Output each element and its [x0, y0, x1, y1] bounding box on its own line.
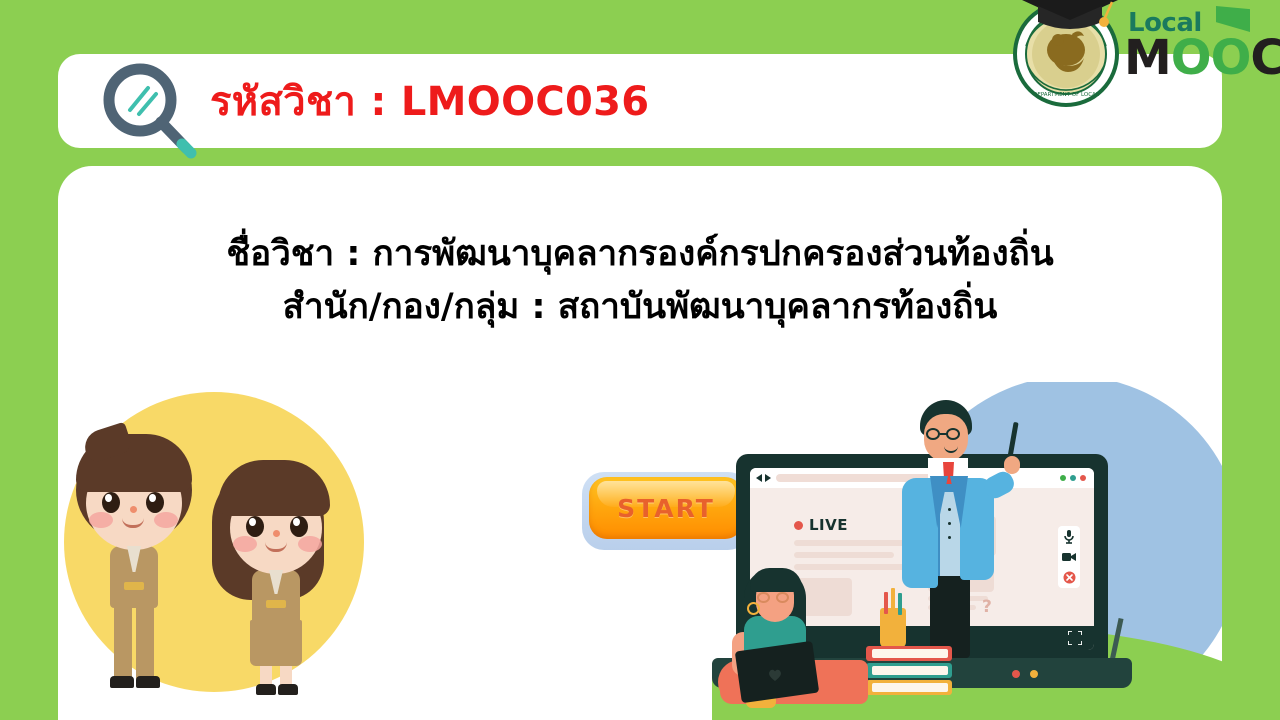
teacher-glasses: [926, 428, 966, 440]
teacher-presenter-character: [888, 400, 1034, 658]
online-live-class-illustration: LIVE: [712, 382, 1222, 720]
live-dot-icon: [794, 521, 803, 530]
live-label: LIVE: [809, 516, 848, 534]
teacher-vest-buttons: [948, 508, 951, 550]
heart-sticker-icon: [768, 666, 782, 679]
pencil-icon: [884, 592, 888, 614]
pencil-cup: [880, 608, 906, 648]
magnifier-icon: [94, 58, 202, 162]
brand-flag-shape: [1216, 6, 1250, 32]
department-line: สำนัก/กอง/กลุ่ม : สถาบันพัฒนาบุคลากรท้อง…: [58, 281, 1222, 334]
course-code-text: รหัสวิชา : LMOOC036: [210, 69, 649, 133]
brand-mooc-text: MOOC: [1124, 34, 1280, 82]
svg-text:DEPARTMENT OF LOCAL: DEPARTMENT OF LOCAL: [1033, 92, 1100, 98]
media-controls-tray[interactable]: [1058, 526, 1080, 588]
text-line: [794, 552, 894, 558]
student-earring: [747, 602, 760, 615]
close-circle-icon[interactable]: [1063, 571, 1076, 584]
nav-arrows-icon[interactable]: [756, 474, 771, 482]
boy-officer-character: [70, 434, 210, 684]
local-mooc-wordmark: Local MOOC: [1124, 4, 1264, 100]
course-name-line: ชื่อวิชา : การพัฒนาบุคลากรองค์กรปกครองส่…: [58, 228, 1222, 281]
mooc-c: C: [1250, 30, 1280, 86]
two-government-officers-illustration: [58, 392, 386, 720]
student-with-laptop-character: [720, 568, 880, 700]
course-title-block: ชื่อวิชา : การพัฒนาบุคลากรองค์กรปกครองส่…: [58, 228, 1222, 334]
mooc-oo: OO: [1171, 30, 1251, 86]
pencil-icon: [898, 593, 902, 615]
fullscreen-icon[interactable]: [1068, 631, 1082, 645]
window-controls[interactable]: [1060, 475, 1086, 481]
pencil-icon: [891, 588, 895, 610]
student-glasses: [757, 592, 793, 603]
video-camera-icon[interactable]: [1062, 552, 1076, 562]
laptop-status-lights: [1012, 670, 1038, 678]
course-info-card: ชื่อวิชา : การพัฒนาบุคลากรองค์กรปกครองส่…: [58, 166, 1222, 720]
girl-officer-character: [202, 454, 342, 690]
mooc-m: M: [1124, 30, 1171, 86]
microphone-icon[interactable]: [1063, 530, 1075, 544]
teacher-hand: [1004, 456, 1020, 474]
graduation-cap-icon: [1018, 0, 1124, 32]
student-hair-top: [750, 568, 802, 592]
local-mooc-logo: DEPARTMENT OF LOCAL Local MOOC: [1012, 0, 1262, 106]
live-badge: LIVE: [794, 516, 848, 534]
